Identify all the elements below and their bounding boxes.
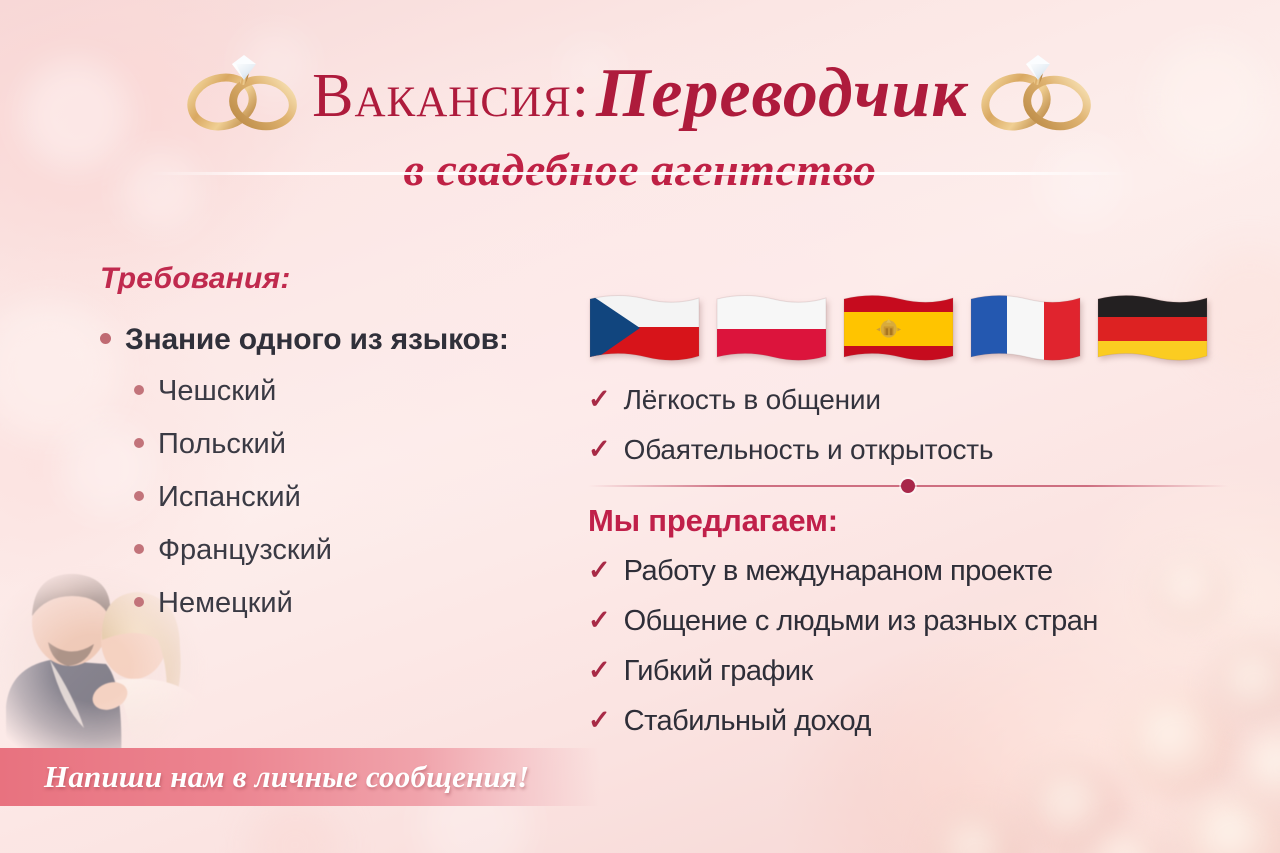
bullet-dot-icon xyxy=(100,333,111,344)
list-item: Испанский xyxy=(100,481,570,514)
check-icon: ✓ xyxy=(588,557,611,584)
divider-dot-icon xyxy=(901,479,915,493)
soft-skill-label: Обаятельность и открытость xyxy=(624,434,994,466)
bullet-dot-icon xyxy=(134,491,144,501)
flag-row xyxy=(588,284,1248,364)
bullet-dot-icon xyxy=(134,438,144,448)
language-label: Польский xyxy=(158,428,286,461)
language-label: Чешский xyxy=(158,375,276,408)
poland-flag xyxy=(715,293,828,364)
list-item: ✓ Гибкий график xyxy=(588,655,1248,688)
check-icon: ✓ xyxy=(588,386,611,413)
germany-flag xyxy=(1096,293,1209,364)
offer-section: ✓ Лёгкость в общении ✓ Обаятельность и о… xyxy=(588,284,1248,755)
offer-heading: Мы предлагаем: xyxy=(588,503,1248,539)
wedding-rings-icon xyxy=(978,46,1096,141)
czech-flag xyxy=(588,293,701,364)
title-role: Переводчик xyxy=(590,55,968,132)
cta-banner[interactable]: Напиши нам в личные сообщения! xyxy=(0,748,600,806)
cta-label: Напиши нам в личные сообщения! xyxy=(44,759,529,795)
soft-skill-label: Лёгкость в общении xyxy=(624,384,881,416)
requirements-heading: Требования: xyxy=(100,262,570,296)
offer-label: Стабильный доход xyxy=(624,705,871,738)
title-label: Вакансия: xyxy=(312,62,590,130)
languages-lead-label: Знание одного из языков: xyxy=(125,323,509,357)
list-item: ✓ Обаятельность и открытость xyxy=(588,434,1248,466)
offer-label: Работу в междунараном проекте xyxy=(624,555,1053,588)
list-item: ✓ Работу в междунараном проекте xyxy=(588,555,1248,588)
list-item: ✓ Лёгкость в общении xyxy=(588,384,1248,416)
page-title: Вакансия:Переводчик xyxy=(312,57,968,131)
list-item: Французский xyxy=(100,534,570,567)
language-list: Чешский Польский Испанский Французский Н… xyxy=(100,375,570,620)
spain-flag xyxy=(842,293,955,364)
page-subtitle: в свадебное агентство xyxy=(0,143,1280,196)
language-label: Испанский xyxy=(158,481,301,514)
bullet-dot-icon xyxy=(134,597,144,607)
offer-label: Гибкий график xyxy=(624,655,813,688)
offer-label: Общение с людьми из разных стран xyxy=(624,605,1098,638)
wedding-rings-icon xyxy=(184,46,302,141)
list-item: Немецкий xyxy=(100,587,570,620)
list-item: Польский xyxy=(100,428,570,461)
title-row: Вакансия:Переводчик xyxy=(0,46,1280,141)
france-flag xyxy=(969,293,1082,364)
section-divider xyxy=(588,484,1228,487)
list-item: ✓ Стабильный доход xyxy=(588,705,1248,738)
check-icon: ✓ xyxy=(588,657,611,684)
bullet-dot-icon xyxy=(134,544,144,554)
requirements-section: Требования: Знание одного из языков: Чеш… xyxy=(100,262,570,640)
list-item: ✓ Общение с людьми из разных стран xyxy=(588,605,1248,638)
language-label: Французский xyxy=(158,534,332,567)
offer-list: ✓ Работу в междунараном проекте ✓ Общени… xyxy=(588,555,1248,738)
bullet-dot-icon xyxy=(134,385,144,395)
check-icon: ✓ xyxy=(588,607,611,634)
language-label: Немецкий xyxy=(158,587,293,620)
header-divider xyxy=(150,172,1130,175)
soft-skills-list: ✓ Лёгкость в общении ✓ Обаятельность и о… xyxy=(588,384,1248,466)
list-item: Чешский xyxy=(100,375,570,408)
check-icon: ✓ xyxy=(588,436,611,463)
poster-canvas: Вакансия:Переводчик в свадебное агентств… xyxy=(0,0,1280,853)
check-icon: ✓ xyxy=(588,707,611,734)
languages-lead-item: Знание одного из языков: xyxy=(100,323,570,357)
